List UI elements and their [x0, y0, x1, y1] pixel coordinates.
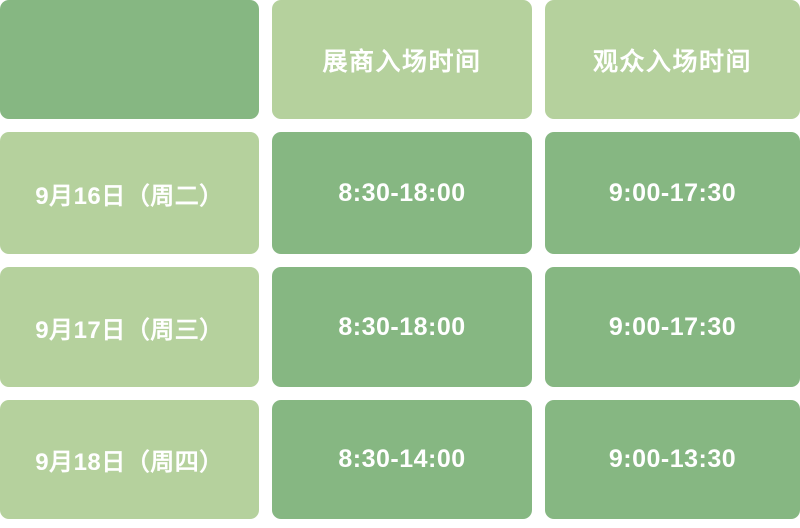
column-header-visitor-label: 观众入场时间	[593, 42, 752, 78]
table-row-visitor-cell-0: 9:00-17:30	[545, 132, 800, 254]
table-row-visitor-cell-1: 9:00-17:30	[545, 267, 800, 387]
table-row-visitor-cell-2: 9:00-13:30	[545, 400, 800, 519]
column-header-visitor: 观众入场时间	[545, 0, 800, 119]
table-row-date-cell-0: 9月16日（周二）	[0, 132, 259, 254]
visitor-time-label-0: 9:00-17:30	[609, 179, 736, 208]
date-label-0: 9月16日（周二）	[35, 176, 224, 211]
table-corner-cell	[0, 0, 259, 119]
table-row-exhibitor-cell-0: 8:30-18:00	[272, 132, 532, 254]
table-row-exhibitor-cell-1: 8:30-18:00	[272, 267, 532, 387]
visitor-time-label-1: 9:00-17:30	[609, 313, 736, 342]
column-header-exhibitor-label: 展商入场时间	[322, 42, 481, 78]
exhibitor-time-label-0: 8:30-18:00	[338, 179, 465, 208]
table-row-exhibitor-cell-2: 8:30-14:00	[272, 400, 532, 519]
date-label-1: 9月17日（周三）	[35, 310, 224, 345]
visitor-time-label-2: 9:00-13:30	[609, 445, 736, 474]
table-row-date-cell-1: 9月17日（周三）	[0, 267, 259, 387]
exhibitor-time-label-2: 8:30-14:00	[338, 445, 465, 474]
date-label-2: 9月18日（周四）	[35, 442, 224, 477]
table-row-date-cell-2: 9月18日（周四）	[0, 400, 259, 519]
column-header-exhibitor: 展商入场时间	[272, 0, 532, 119]
exhibitor-time-label-1: 8:30-18:00	[338, 313, 465, 342]
entry-schedule-table: 展商入场时间 观众入场时间 9月16日（周二） 8:30-18:00 9:00-…	[0, 0, 800, 528]
